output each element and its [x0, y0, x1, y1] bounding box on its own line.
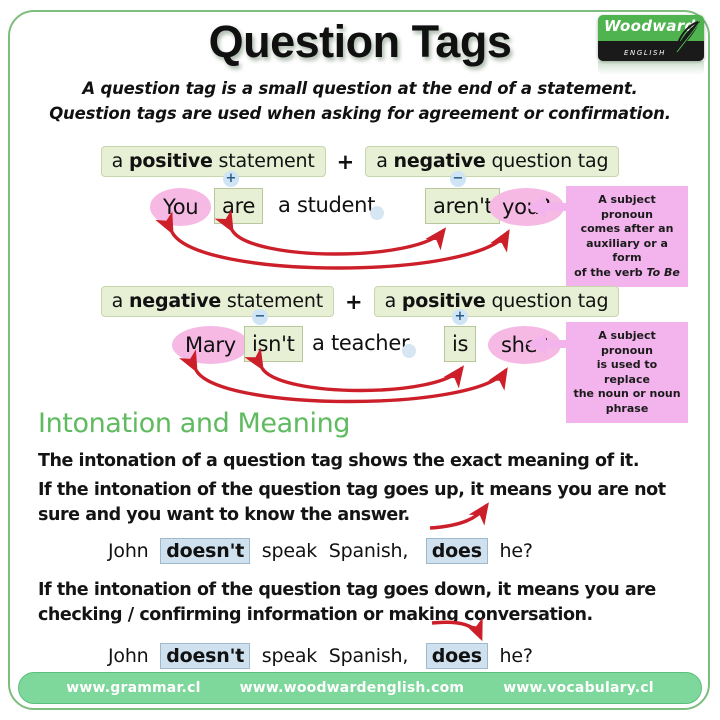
section-heading-intonation: Intonation and Meaning: [38, 408, 350, 439]
footer-url-vocabulary[interactable]: www.vocabulary.cl: [503, 680, 654, 696]
callout-1-line-4: of the verb To Be: [572, 266, 682, 281]
rising-intonation-text: If the intonation of the question tag go…: [38, 478, 688, 528]
example-1-auxiliary: are: [214, 188, 263, 224]
falling-word-5: does: [426, 643, 488, 669]
example-2-tag-auxiliary: is: [444, 326, 476, 362]
callout-1-line-4-pre: of the verb: [574, 266, 646, 279]
callout-2: A subject pronoun is used to replace the…: [566, 322, 688, 423]
falling-word-3: speak: [262, 645, 317, 667]
callout-2-line-4: phrase: [572, 402, 682, 417]
example-1-tag-badge: −: [450, 171, 466, 187]
rising-word-4: Spanish,: [329, 540, 408, 562]
formula-1-left-bold: positive: [129, 150, 213, 172]
subtitle-line-2: Question tags are used when asking for a…: [0, 104, 720, 123]
falling-word-2: doesn't: [160, 643, 250, 669]
formula-2-right-pre: a: [385, 290, 402, 312]
callout-2-line-1: A subject pronoun: [572, 329, 682, 358]
logo-sub-text: ENGLISH: [624, 49, 666, 57]
subtitle-line-1: A question tag is a small question at th…: [0, 79, 720, 98]
example-2-comma-highlight: [402, 344, 416, 358]
rising-word-2: doesn't: [160, 538, 250, 564]
footer-bar: www.grammar.cl www.woodwardenglish.com w…: [18, 672, 702, 704]
falling-word-6: he?: [500, 645, 533, 667]
formula-2-right-bold: positive: [402, 290, 486, 312]
callout-1-line-2: comes after an: [572, 222, 682, 237]
callout-2-line-2: is used to replace: [572, 358, 682, 387]
example-2-tag-badge: +: [452, 309, 468, 325]
rising-text-pre: If the intonation of the question tag go…: [38, 480, 434, 500]
callout-1-line-3: auxiliary or a form: [572, 237, 682, 266]
example-2-aux-badge: −: [252, 309, 268, 325]
formula-1-right-bold: negative: [394, 150, 486, 172]
leaf-icon: [668, 19, 702, 61]
footer-urls: www.grammar.cl www.woodwardenglish.com w…: [19, 680, 701, 696]
formula-row-1: a positive statement+a negative question…: [0, 146, 720, 177]
falling-intonation-text: If the intonation of the question tag go…: [38, 578, 688, 628]
example-1-aux-badge: +: [223, 171, 239, 187]
falling-example-sentence: John doesn't speak Spanish, does he?: [108, 645, 533, 667]
falling-text-bold: down: [434, 580, 485, 600]
formula-row-2: a negative statement+a positive question…: [0, 286, 720, 317]
formula-2-left-post: statement: [221, 290, 323, 312]
falling-text-pre: If the intonation of the question tag go…: [38, 580, 434, 600]
example-2-tag-subject: she?: [488, 326, 561, 364]
example-1-middle: a student: [278, 188, 375, 222]
formula-1-left-chip: a positive statement: [101, 146, 326, 177]
callout-1-line-4-italic: To Be: [646, 266, 679, 279]
example-2-subject: Mary: [172, 326, 249, 364]
example-2-auxiliary: isn't: [244, 326, 303, 362]
formula-2-right-post: question tag: [486, 290, 609, 312]
rising-word-5: does: [426, 538, 488, 564]
logo-reflection: [598, 61, 704, 75]
falling-word-4: Spanish,: [329, 645, 408, 667]
example-2-middle: a teacher: [312, 326, 409, 360]
formula-2-operator: +: [334, 290, 374, 314]
rising-text-bold: up: [434, 480, 458, 500]
falling-word-1: John: [108, 645, 149, 667]
callout-1-line-1: A subject pronoun: [572, 193, 682, 222]
formula-2-right-chip: a positive question tag: [374, 286, 620, 317]
callout-2-line-4-pre: phrase: [606, 402, 649, 415]
formula-1-left-pre: a: [112, 150, 129, 172]
example-1-tag-subject: you?: [489, 188, 564, 226]
intonation-intro-text: The intonation of a question tag shows t…: [38, 449, 688, 474]
formula-1-right-chip: a negative question tag: [365, 146, 619, 177]
callout-1: A subject pronoun comes after an auxilia…: [566, 186, 688, 287]
formula-2-left-pre: a: [112, 290, 129, 312]
formula-2-left-bold: negative: [129, 290, 221, 312]
infographic-poster: Question Tags Woodward ENGLISH A questio…: [0, 0, 720, 720]
example-1-subject: You: [150, 188, 211, 226]
example-1-comma-highlight: [370, 206, 384, 220]
rising-word-3: speak: [262, 540, 317, 562]
formula-1-operator: +: [326, 150, 366, 174]
formula-2-left-chip: a negative statement: [101, 286, 334, 317]
formula-1-left-post: statement: [213, 150, 315, 172]
woodward-english-logo: Woodward ENGLISH: [598, 15, 704, 61]
callout-2-line-3: the noun or noun: [572, 387, 682, 402]
footer-url-grammar[interactable]: www.grammar.cl: [66, 680, 200, 696]
formula-1-right-post: question tag: [486, 150, 609, 172]
rising-example-sentence: John doesn't speak Spanish, does he?: [108, 540, 533, 562]
footer-url-woodwardenglish[interactable]: www.woodwardenglish.com: [240, 680, 465, 696]
rising-word-1: John: [108, 540, 149, 562]
formula-1-right-pre: a: [376, 150, 393, 172]
rising-word-6: he?: [500, 540, 533, 562]
